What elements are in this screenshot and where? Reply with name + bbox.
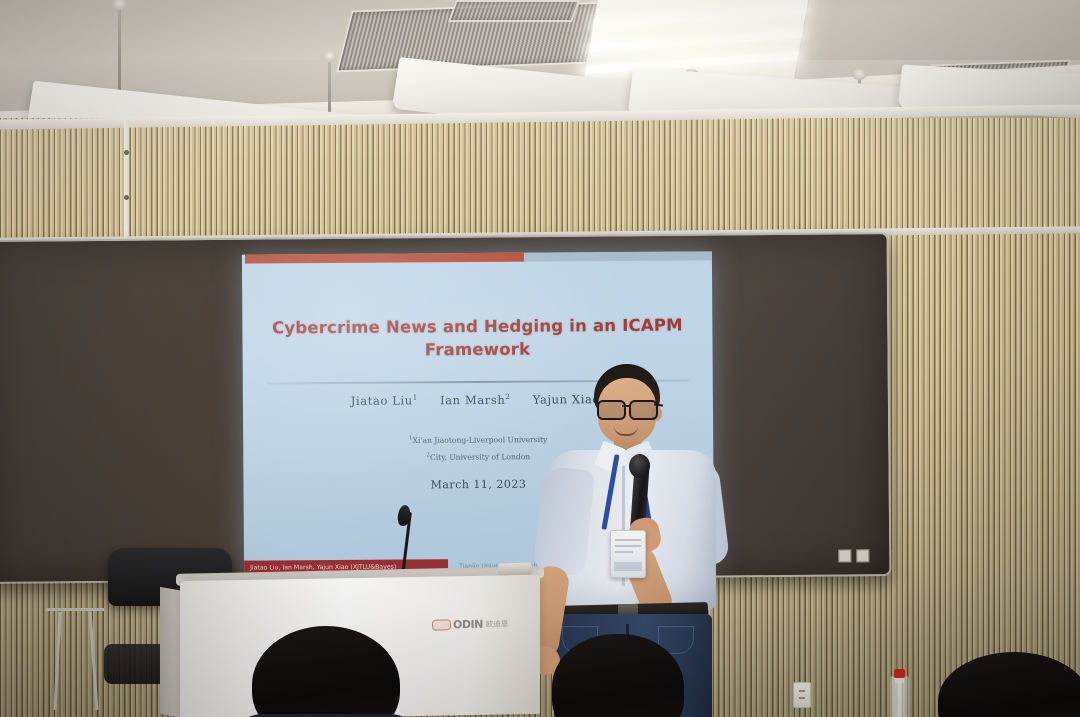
board-control-buttons[interactable] [838,549,869,562]
baffle-hanger [118,8,121,94]
eyeglasses-icon [596,400,660,416]
odin-mark-icon [432,619,451,630]
presentation-photo: Cybercrime News and Hedging in an ICAPM … [0,0,1080,717]
water-bottle [890,676,909,717]
slide-author: Ian Marsh2 [440,393,510,407]
slide-progress-bar [245,253,527,264]
lectern-brand-logo: ODIN 欧迪恩 [432,617,508,631]
slide-author: Jiatao Liu1 [351,393,418,407]
air-supply-grille-icon [448,0,580,22]
lectern-device [498,562,532,575]
wall-panel-joint [124,120,129,238]
equipment-stand-bar [46,608,104,611]
slide-title: Cybercrime News and Hedging in an ICAPM … [268,314,686,363]
lectern-brand-cn: 欧迪恩 [486,618,509,629]
speaker-left-sleeve [533,466,596,577]
slide-progress-track [524,251,712,261]
name-badge [610,530,646,578]
bottle-cap [894,669,905,678]
lectern-brand-word: ODIN [453,618,483,632]
wall-power-outlet[interactable] [793,682,811,708]
